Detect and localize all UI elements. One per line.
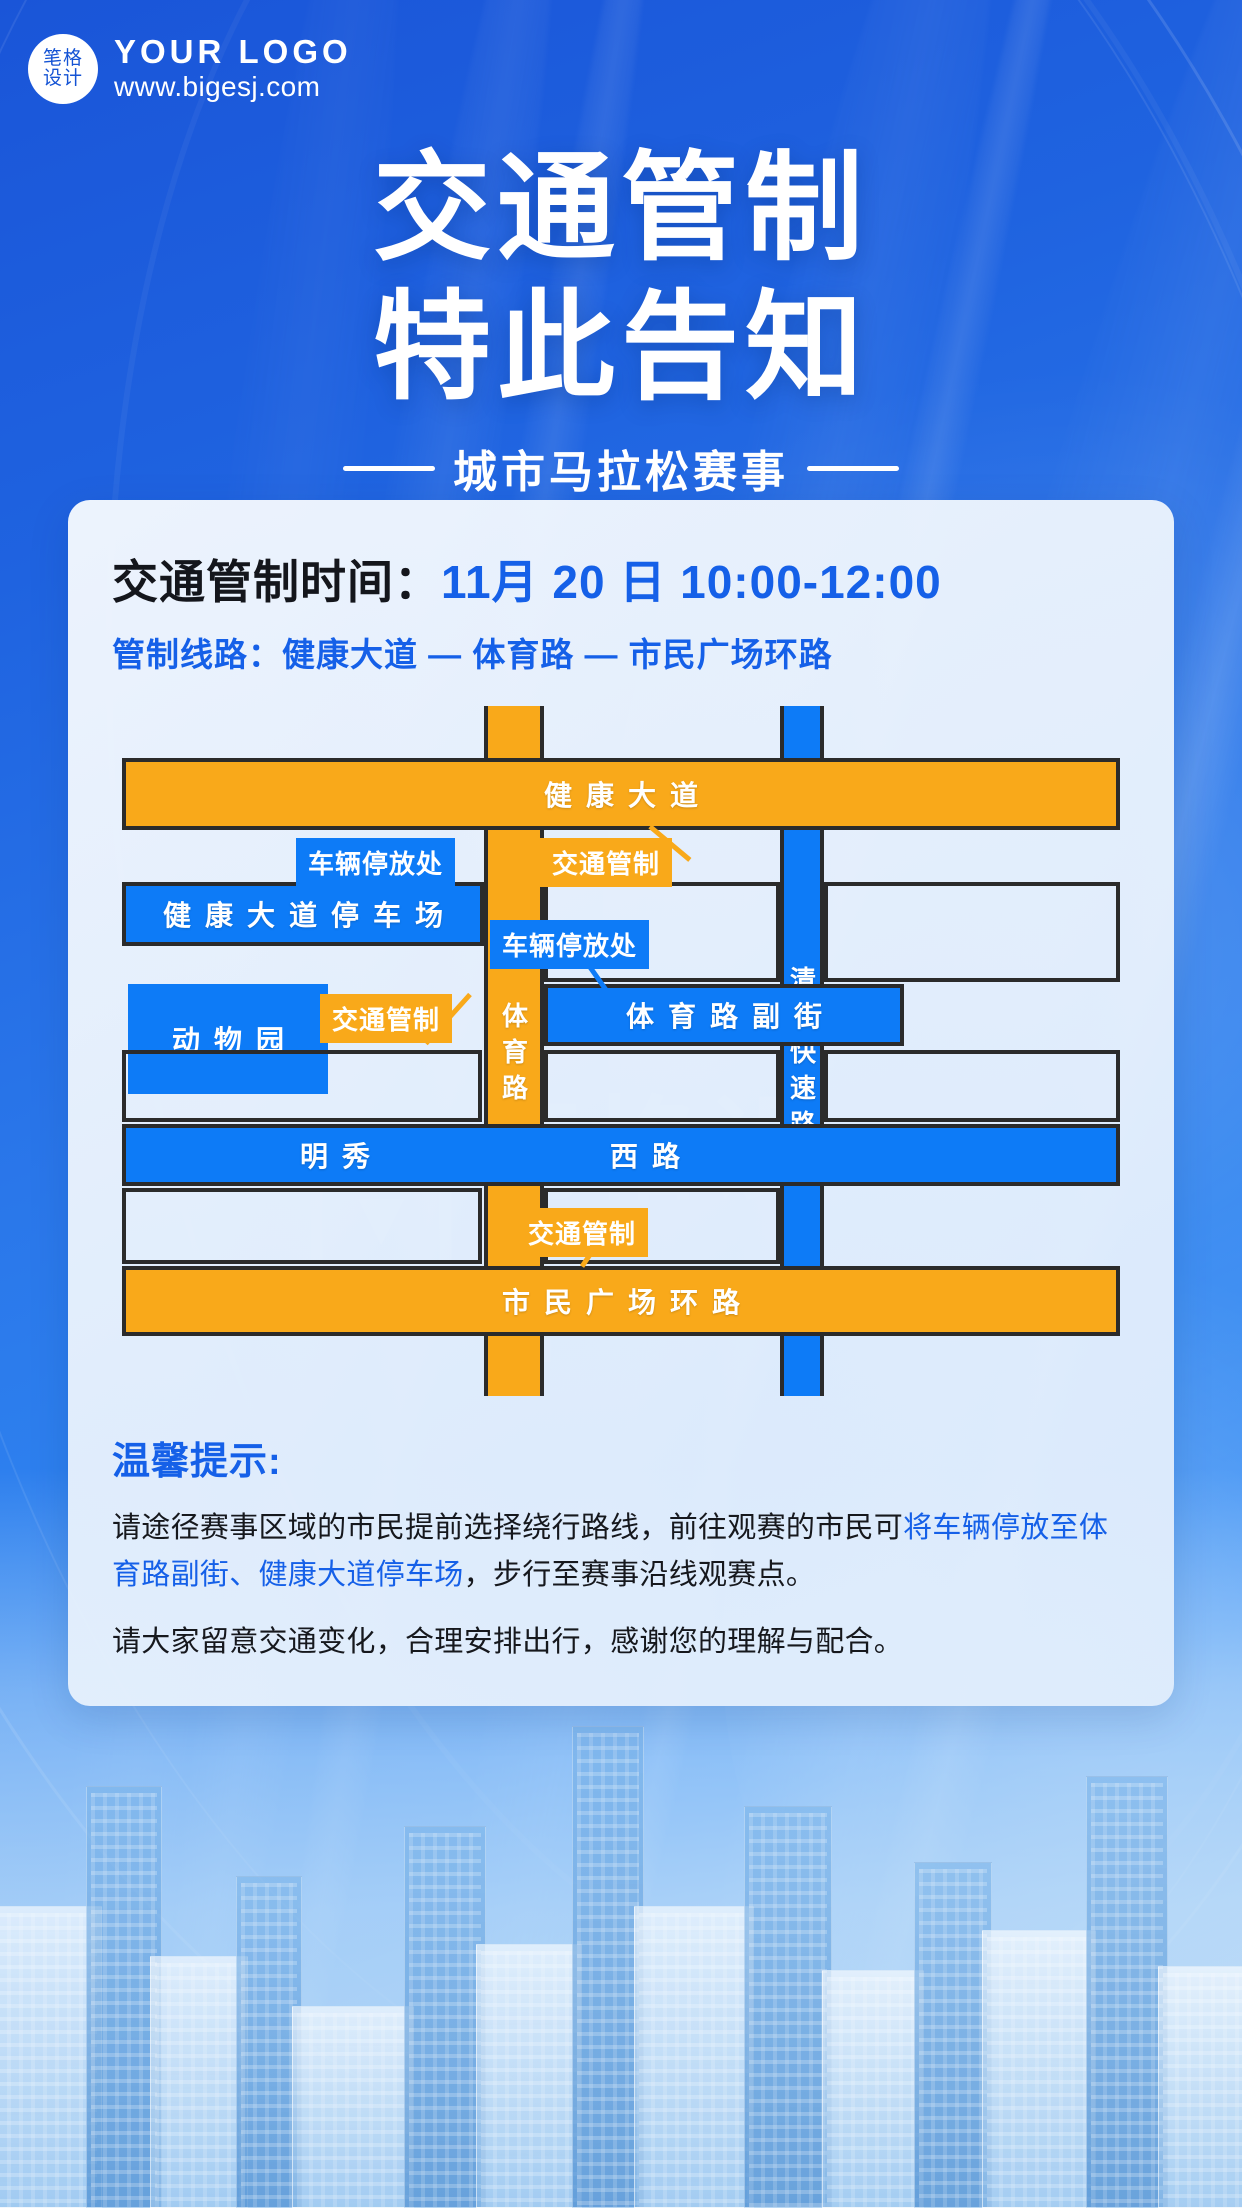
tips-paragraph-2: 请大家留意交通变化，合理安排出行，感谢您的理解与配合。 [112,1619,1130,1666]
headline-block: 交通管制 特此告知 城市马拉松赛事 [0,140,1242,500]
brand-badge-line1: 笔格 [43,49,83,69]
road-label-mingxiu: 明秀 [286,1135,384,1175]
road-tiyu-lu-side-street: 体育路副街 [544,984,904,1046]
tag-traffic-control-3[interactable]: 交通管制 [516,1208,648,1257]
map-block [824,1050,1120,1122]
poster-root: 笔格 设计 YOUR LOGO www.bigesj.com 交通管制 特此告知… [0,0,1242,2208]
control-time-value: 11月 20 日 10:00-12:00 [441,556,942,608]
notice-card: 交通管制时间：11月 20 日 10:00-12:00 管制线路：健康大道 — … [68,500,1174,1706]
tag-traffic-control-1[interactable]: 交通管制 [540,838,672,887]
subtitle-row: 城市马拉松赛事 [0,436,1242,500]
tag-traffic-control-2[interactable]: 交通管制 [320,994,452,1043]
tips-paragraph-1: 请途径赛事区域的市民提前选择绕行路线，前往观赛的市民可将车辆停放至体育路副街、健… [112,1505,1130,1599]
road-label-jiankang-dadao-parking: 健康大道停车场 [149,894,457,934]
subtitle-text: 城市马拉松赛事 [453,436,789,500]
road-label-civic-square-ring: 市民广场环路 [488,1281,754,1321]
dash-right-icon [807,466,899,471]
headline-line-1: 交通管制 [0,140,1242,279]
road-label-tiyu-lu-side-street: 体育路副街 [612,995,836,1035]
dash-left-icon [343,466,435,471]
brand-badge-line2: 设计 [43,69,83,89]
tag-parking-1[interactable]: 车辆停放处 [296,838,455,887]
headline-line-2: 特此告知 [0,279,1242,418]
tips-p1-part-b: ，步行至赛事沿线观赛点。 [464,1559,816,1591]
road-jiankang-dadao: 健康大道 [122,758,1120,830]
map-block [122,1050,482,1122]
road-label-west-road: 西路 [596,1135,694,1175]
brand-logo: 笔格 设计 YOUR LOGO www.bigesj.com [28,34,352,104]
tips-title: 温馨提示: [112,1430,1130,1485]
control-time-row: 交通管制时间：11月 20 日 10:00-12:00 [112,546,1130,612]
road-label-tiyu-lu: 体育路 [496,992,533,1110]
road-jiankang-dadao-parking: 健康大道停车场 [122,882,484,946]
map-block [122,1188,482,1264]
road-civic-square-ring: 市民广场环路 [122,1266,1120,1336]
brand-badge-icon: 笔格 设计 [28,34,98,104]
brand-name: YOUR LOGO [114,34,352,71]
tag-parking-2[interactable]: 车辆停放处 [490,920,649,969]
tips-section: 温馨提示: 请途径赛事区域的市民提前选择绕行路线，前往观赛的市民可将车辆停放至体… [112,1430,1130,1666]
control-time-label: 交通管制时间： [112,556,441,608]
map-block [824,882,1120,982]
brand-website: www.bigesj.com [114,71,352,103]
road-map-diagram: 体育路 清厢快速路 健康大道 健康大道停车场 动物园 体育路副街 [112,706,1130,1396]
map-block [544,1050,780,1122]
road-label-jiankang-dadao: 健康大道 [530,774,712,814]
control-route-line: 管制线路：健康大道 — 体育路 — 市民广场环路 [112,628,1130,676]
tips-p1-part-a: 请途径赛事区域的市民提前选择绕行路线，前往观赛的市民可 [112,1512,903,1544]
road-mingxiu-west: 明秀 西路 [122,1124,1120,1186]
